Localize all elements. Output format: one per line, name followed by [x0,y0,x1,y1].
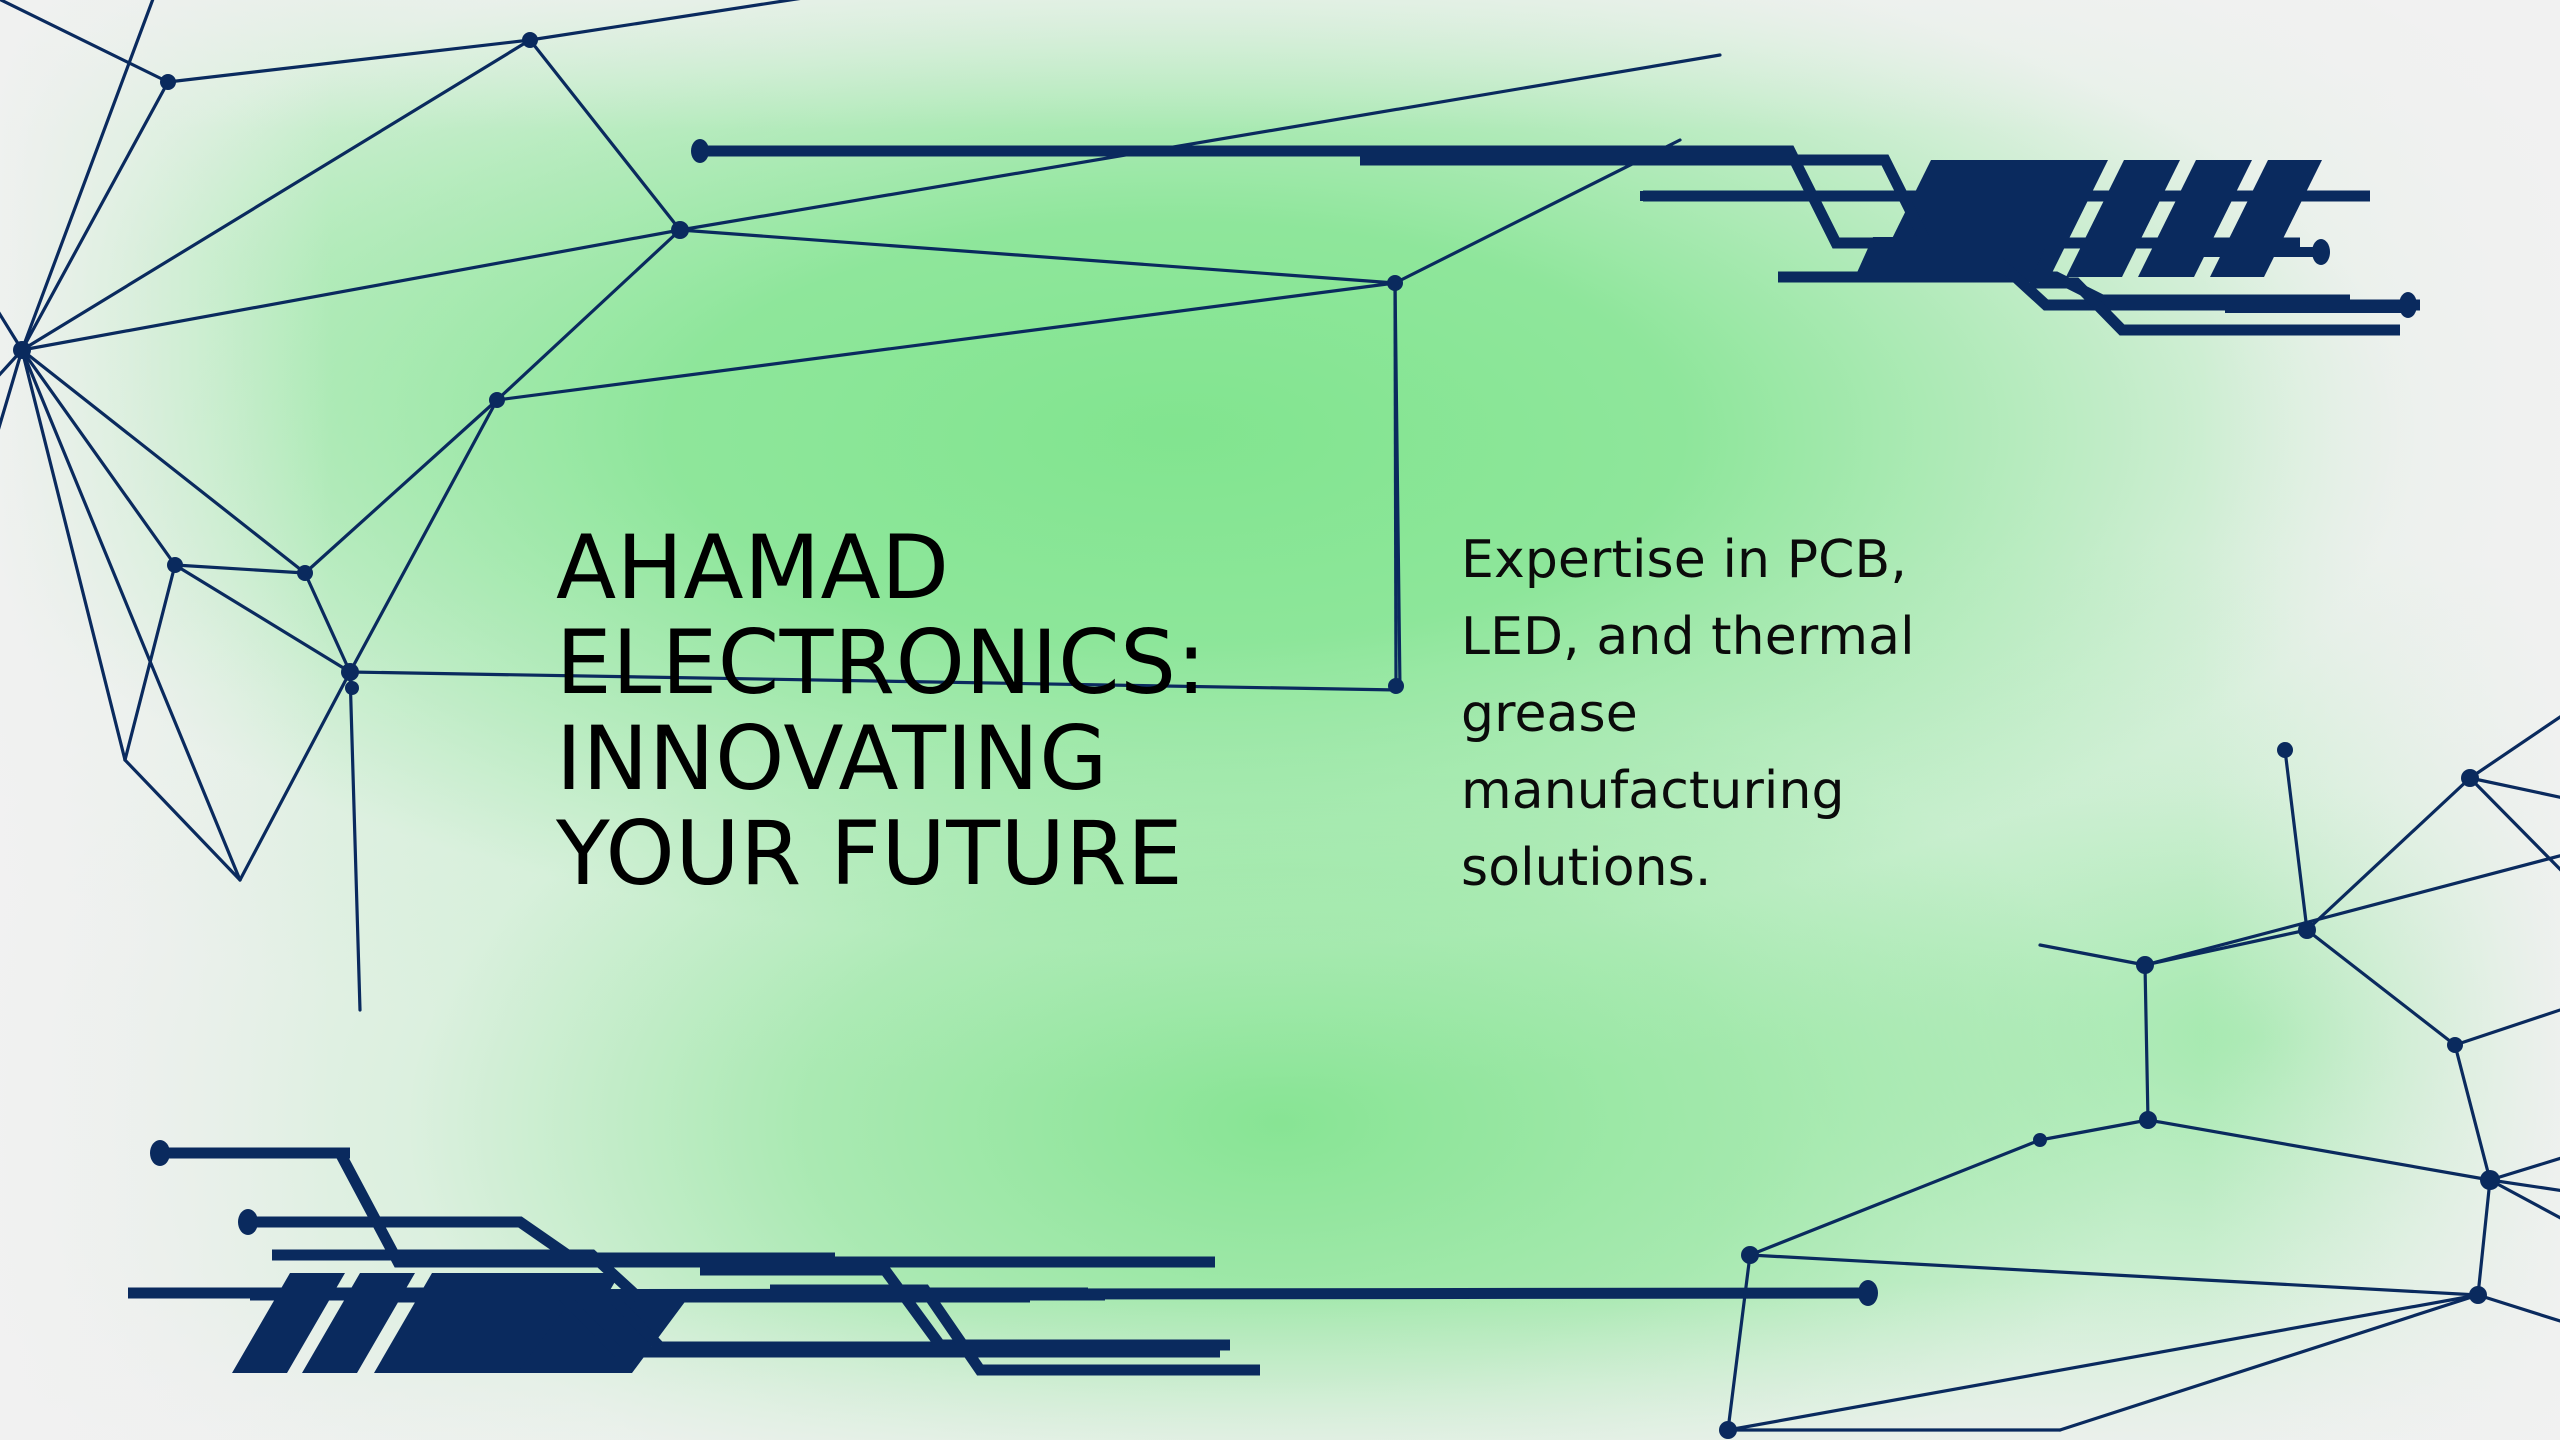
hero-banner: AHAMAD ELECTRONICS: INNOVATING YOUR FUTU… [0,0,2560,1440]
subheadline-text: Expertise in PCB, LED, and thermal greas… [1461,522,2001,907]
hero-content: AHAMAD ELECTRONICS: INNOVATING YOUR FUTU… [0,0,2560,1440]
page-title: AHAMAD ELECTRONICS: INNOVATING YOUR FUTU… [556,520,1376,902]
